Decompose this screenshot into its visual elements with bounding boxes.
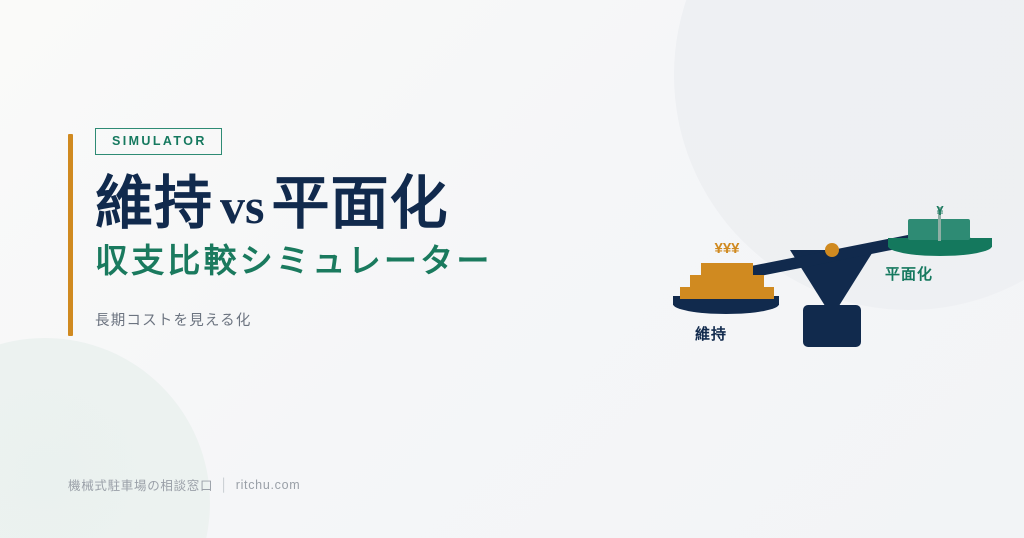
beam-pivot-icon	[825, 243, 839, 257]
page-title-part1: 維持	[95, 171, 213, 236]
accent-bar	[68, 134, 73, 336]
page-subtitle: 収支比較シミュレーター	[95, 243, 588, 283]
left-cost-marker: ¥¥¥	[714, 240, 740, 257]
footer: 機械式駐車場の相談窓口 │ ritchu.com	[68, 475, 300, 494]
page-title-part2: 平面化	[271, 171, 448, 236]
right-pan-group: ¥	[888, 205, 992, 256]
hero-text-block: SIMULATOR 維持vs平面化 収支比較シミュレーター 長期コストを見える化	[68, 128, 588, 330]
illustration-label-maintain: 維持	[695, 323, 727, 344]
footer-separator: │	[220, 478, 229, 492]
simulator-badge: SIMULATOR	[95, 128, 222, 155]
left-pan-group: ¥¥¥	[673, 240, 779, 314]
decorative-circle-bottom-left	[0, 338, 210, 538]
page-tagline: 長期コストを見える化	[95, 309, 588, 330]
page-title: 維持vs平面化	[95, 173, 588, 236]
footer-domain: ritchu.com	[236, 478, 301, 492]
balance-scale-illustration: ¥¥¥ ¥ 維持 平面化	[650, 205, 1010, 365]
right-cost-marker: ¥	[936, 205, 944, 218]
illustration-label-flatten: 平面化	[885, 263, 933, 284]
coin-stack-tier3-icon	[701, 263, 753, 275]
coin-stack-tier2-icon	[690, 275, 764, 287]
coin-stack-tier1-icon	[680, 287, 774, 299]
footer-site-tagline: 機械式駐車場の相談窓口	[68, 475, 213, 494]
page-title-vs: vs	[213, 178, 271, 234]
